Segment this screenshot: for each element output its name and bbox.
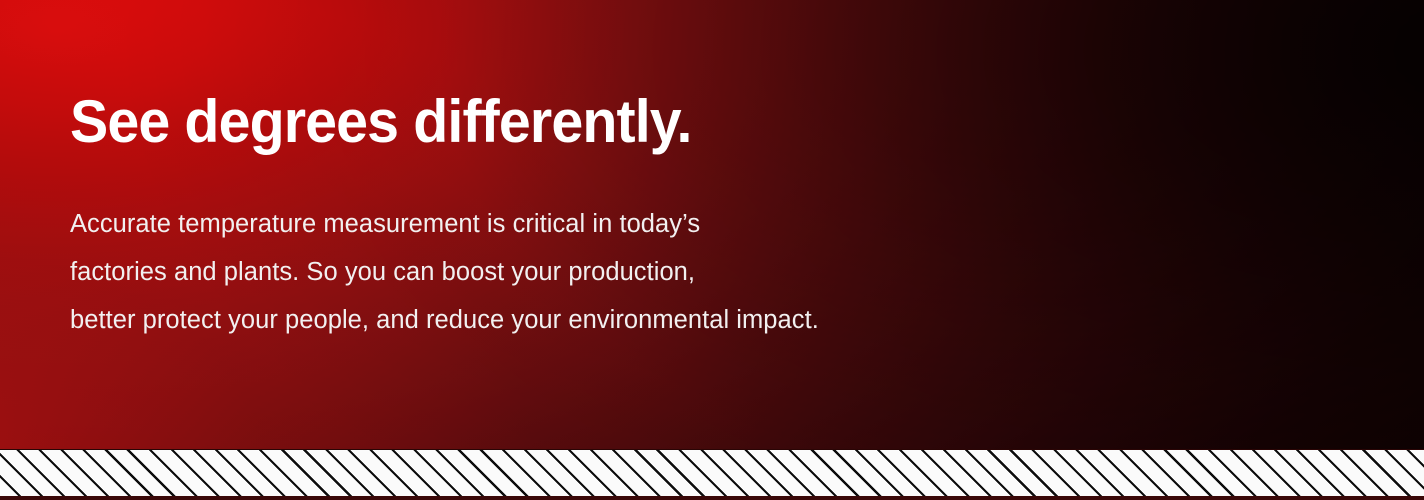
hero-subcopy: Accurate temperature measurement is crit… (70, 200, 819, 344)
hero-headline: See degrees differently. (70, 92, 692, 152)
hero-subcopy-line-1: Accurate temperature measurement is crit… (70, 200, 819, 248)
hero-subcopy-line-3: better protect your people, and reduce y… (70, 296, 819, 344)
hazard-stripe-band (0, 449, 1424, 500)
hero-subcopy-line-2: factories and plants. So you can boost y… (70, 248, 819, 296)
hero-banner: See degrees differently. Accurate temper… (0, 0, 1424, 500)
hazard-band-bottom-rule (0, 496, 1424, 500)
